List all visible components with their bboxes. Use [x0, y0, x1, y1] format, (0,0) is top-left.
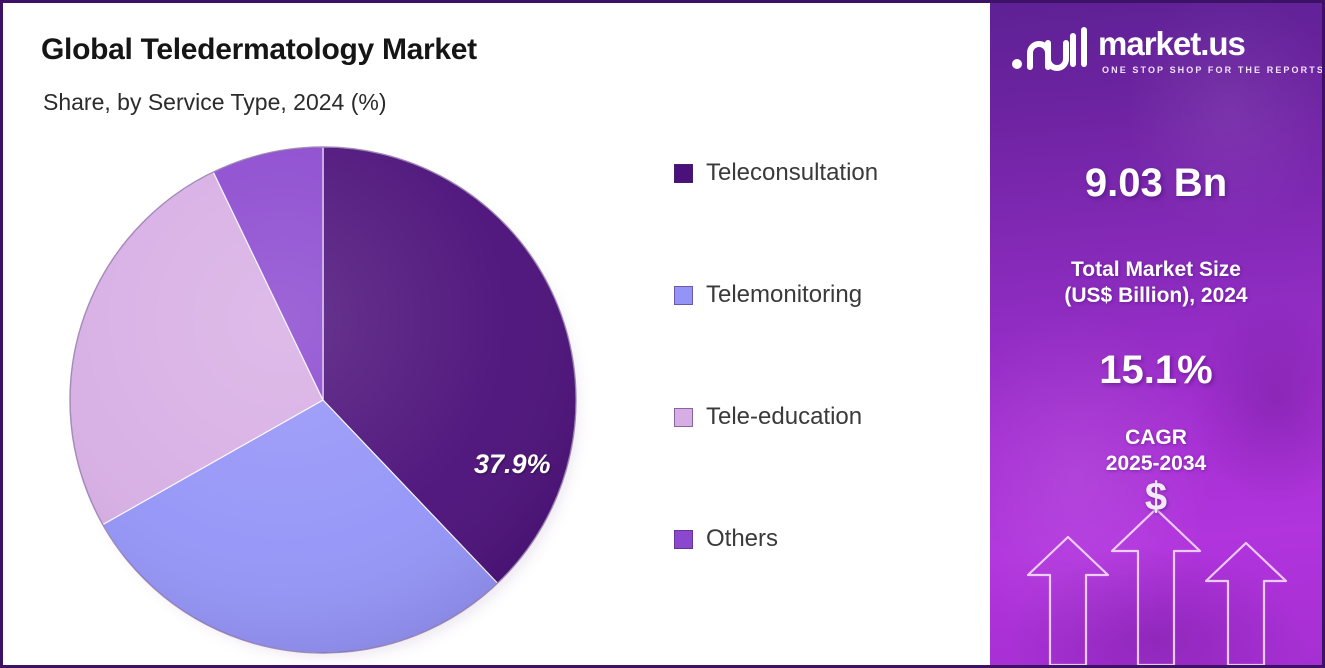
legend-swatch-others — [674, 530, 693, 549]
pie-chart: 37.9% — [69, 146, 577, 654]
brand-tagline: ONE STOP SHOP FOR THE REPORTS — [1102, 65, 1322, 75]
stats-panel: market.us ONE STOP SHOP FOR THE REPORTS … — [990, 3, 1322, 665]
growth-arrows-graphic: $ — [990, 475, 1322, 665]
chart-panel: Global Teledermatology Market Share, by … — [3, 3, 990, 665]
market-size-value: 9.03 Bn — [990, 161, 1322, 206]
cagr-value: 15.1% — [990, 348, 1322, 393]
legend-label-telemonitoring: Telemonitoring — [706, 281, 862, 309]
brand-name: market.us — [1098, 25, 1245, 63]
market-size-caption-line1: Total Market Size — [990, 257, 1322, 283]
legend-swatch-telemonitoring — [674, 286, 693, 305]
infographic-frame: Global Teledermatology Market Share, by … — [0, 0, 1325, 668]
pie-slices — [69, 146, 577, 654]
legend-item-tele-education[interactable]: Tele-education — [674, 399, 974, 435]
brand-logo[interactable]: market.us ONE STOP SHOP FOR THE REPORTS — [1010, 21, 1302, 77]
cagr-caption: CAGR 2025-2034 — [990, 425, 1322, 477]
pie-slice-label-teleconsultation: 37.9% — [474, 449, 551, 480]
page-subtitle: Share, by Service Type, 2024 (%) — [43, 89, 386, 116]
legend-label-teleconsultation: Teleconsultation — [706, 159, 878, 187]
cagr-caption-line1: CAGR — [990, 425, 1322, 451]
legend-item-telemonitoring[interactable]: Telemonitoring — [674, 277, 974, 313]
legend-swatch-tele-education — [674, 408, 693, 427]
market-size-caption-line2: (US$ Billion), 2024 — [990, 283, 1322, 309]
cagr-caption-line2: 2025-2034 — [990, 451, 1322, 477]
market-us-logo-icon — [1010, 23, 1090, 73]
chart-legend: Teleconsultation Telemonitoring Tele-edu… — [674, 155, 974, 557]
dollar-sign-icon: $ — [990, 475, 1322, 520]
legend-item-teleconsultation[interactable]: Teleconsultation — [674, 155, 974, 191]
market-size-caption: Total Market Size (US$ Billion), 2024 — [990, 257, 1322, 309]
page-title: Global Teledermatology Market — [41, 33, 477, 67]
legend-label-tele-education: Tele-education — [706, 403, 862, 431]
legend-swatch-teleconsultation — [674, 164, 693, 183]
legend-item-others[interactable]: Others — [674, 521, 974, 557]
legend-label-others: Others — [706, 525, 778, 553]
